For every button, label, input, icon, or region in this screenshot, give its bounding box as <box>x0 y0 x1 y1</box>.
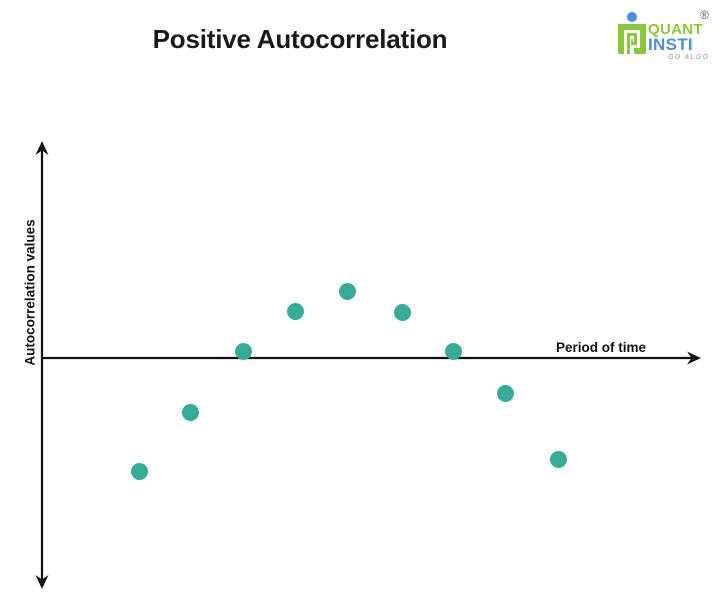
x-axis-label: Period of time <box>556 340 646 355</box>
plot-axes <box>0 0 720 607</box>
data-point <box>445 343 462 360</box>
chart-canvas: Positive Autocorrelation QUANT INSTI ® G… <box>0 0 720 607</box>
data-point <box>394 304 411 321</box>
data-point <box>550 451 567 468</box>
data-point <box>131 463 148 480</box>
data-point <box>235 343 252 360</box>
y-axis-label: Autocorrelation values <box>23 183 38 403</box>
data-point <box>497 385 514 402</box>
data-point <box>339 283 356 300</box>
data-point <box>182 404 199 421</box>
data-point <box>287 303 304 320</box>
